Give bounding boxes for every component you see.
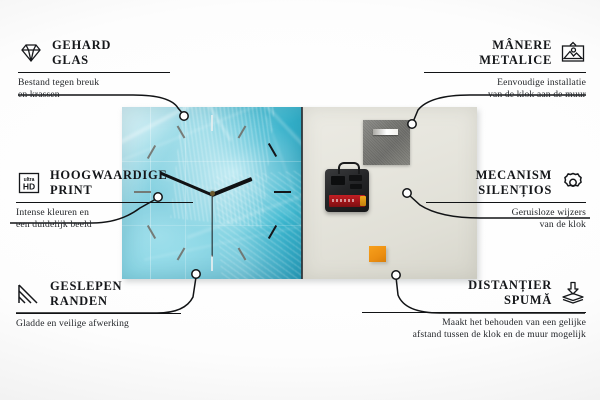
feature-rule	[16, 313, 181, 314]
hour-hand	[211, 177, 252, 197]
feature-header: GESLEPEN RANDEN	[16, 279, 186, 309]
feature-description: Geruisloze wijzers van de klok	[426, 207, 586, 231]
battery	[329, 195, 365, 207]
mechanism-vent	[349, 175, 362, 181]
foam-spacer	[369, 246, 386, 262]
quartz-mechanism	[325, 169, 369, 212]
battery-label	[332, 199, 356, 202]
ultra-hd-big-label: HD	[23, 182, 35, 192]
clock-hub	[210, 191, 215, 196]
feature-title: GESLEPEN RANDEN	[50, 279, 122, 309]
feature-rule	[426, 202, 586, 203]
ultra-hd-icon: ultra HD	[16, 171, 42, 195]
feature-header: MÂNERE METALICE	[424, 38, 586, 68]
feature-rule	[424, 72, 586, 73]
feature-title: DISTANȚIER SPUMĂ	[468, 278, 552, 308]
picture-frame-icon	[560, 41, 586, 65]
feature-rule	[362, 312, 586, 313]
hanger-texture	[363, 120, 410, 165]
feature-description: Eenvoudige installatie van de klok aan d…	[424, 77, 586, 101]
feature-header: ultra HD HOOGWAARDIGE PRINT	[16, 168, 196, 198]
diagonal-stripes-icon	[16, 282, 42, 306]
diamond-icon	[18, 41, 44, 65]
stack-arrow-icon	[560, 281, 586, 305]
second-hand	[211, 194, 212, 256]
feature-header: GEHARD GLAS	[18, 38, 178, 68]
feature-rule	[18, 72, 170, 73]
feature-header: DISTANȚIER SPUMĂ	[362, 278, 586, 308]
feature-title: MECANISM SILENȚIOS	[476, 168, 552, 198]
mechanism-loop	[338, 162, 360, 174]
feature-distantier-spuma: DISTANȚIER SPUMĂ Maakt het behouden van …	[362, 278, 586, 341]
feature-rule	[16, 202, 193, 203]
feature-mecanism-silentios: MECANISM SILENȚIOS Geruisloze wijzers va…	[426, 168, 586, 231]
feature-gehard-glas: GEHARD GLAS Bestand tegen breuk en krass…	[18, 38, 178, 101]
mechanism-vent	[350, 184, 362, 189]
feature-geslepen-randen: GESLEPEN RANDEN Gladde en veilige afwerk…	[16, 279, 186, 330]
mechanism-vent	[331, 176, 345, 185]
feature-description: Gladde en veilige afwerking	[16, 318, 186, 330]
feature-manere-metalice: MÂNERE METALICE Eenvoudige installatie v…	[424, 38, 586, 101]
feature-title: MÂNERE METALICE	[479, 38, 552, 68]
feature-title: GEHARD GLAS	[52, 38, 111, 68]
feature-description: Intense kleuren en een duidelijk beeld	[16, 207, 196, 231]
feature-description: Bestand tegen breuk en krassen	[18, 77, 178, 101]
feature-header: MECANISM SILENȚIOS	[426, 168, 586, 198]
battery-terminal	[360, 196, 366, 206]
hanger-slot	[373, 129, 398, 135]
feature-description: Maakt het behouden van een gelijke afsta…	[362, 317, 586, 341]
metal-hanger	[363, 120, 410, 165]
infographic-canvas: GEHARD GLAS Bestand tegen breuk en krass…	[0, 0, 600, 400]
gear-icon	[560, 171, 586, 195]
feature-title: HOOGWAARDIGE PRINT	[50, 168, 167, 198]
feature-hoogwaardige-print: ultra HD HOOGWAARDIGE PRINT Intense kleu…	[16, 168, 196, 231]
